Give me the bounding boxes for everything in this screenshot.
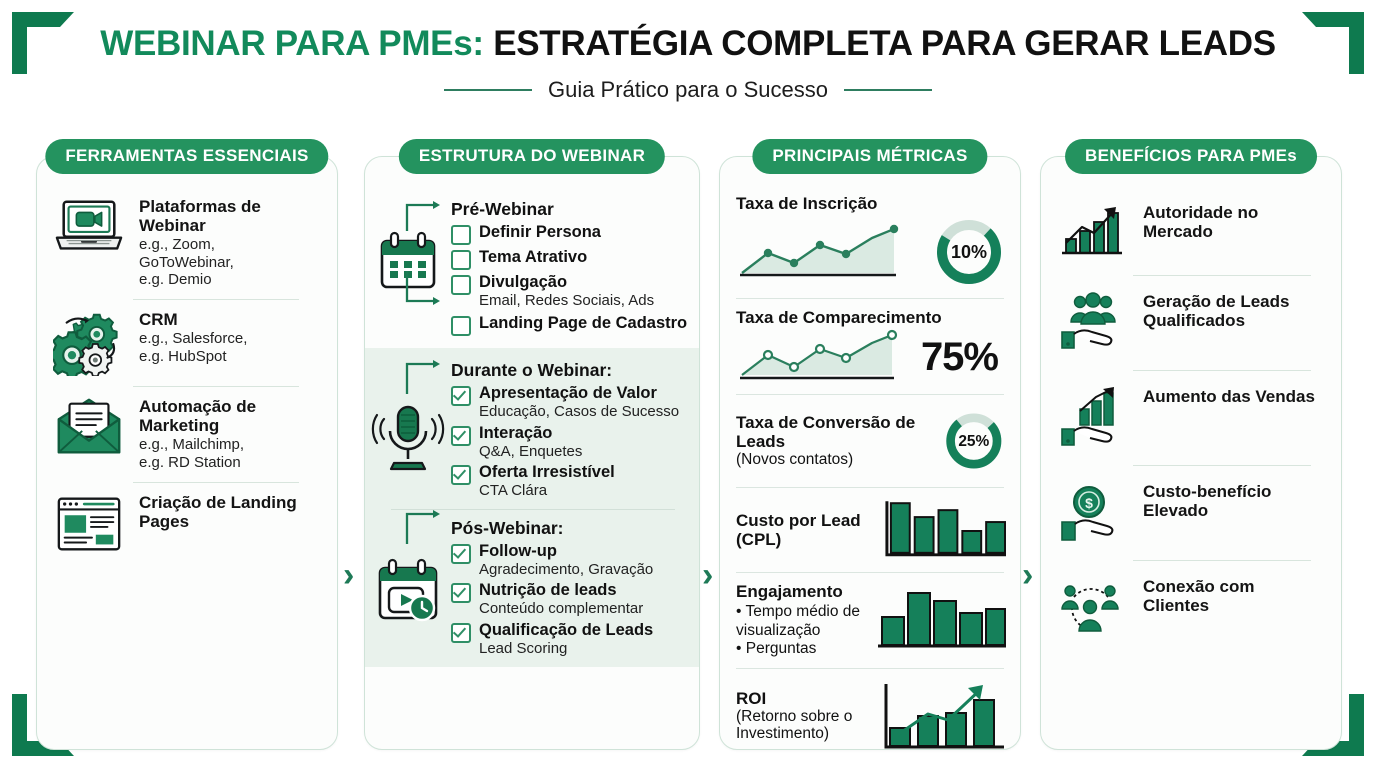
checkbox-unchecked-icon[interactable] [451, 225, 471, 245]
metric-bullet: • Perguntas [736, 640, 860, 659]
checklist-label: Tema Atrativo [479, 248, 587, 266]
checklist-label: Follow-up [479, 542, 557, 560]
list-item[interactable]: Geração de Leads Qualificados [1041, 292, 1341, 354]
metric-taxa-comparecimento: Taxa de Comparecimento 75% [720, 301, 1020, 392]
metric-title: Custo por Lead (CPL) [736, 511, 871, 549]
checklist-label: Oferta Irresistível [479, 463, 615, 481]
beneficios-list: Autoridade no Mercado [1041, 203, 1341, 637]
list-item[interactable]: Plataformas de Webinar e.g., Zoom, GoToW… [37, 197, 337, 289]
checkbox-unchecked-icon[interactable] [451, 250, 471, 270]
checkbox-checked-icon[interactable] [451, 583, 471, 603]
list-item-text: Aumento das Vendas [1143, 387, 1325, 406]
list-item[interactable]: CRM e.g., Salesforce, e.g. HubSpot [37, 310, 337, 376]
checklist-item[interactable]: Divulgação Email, Redes Sociais, Ads [451, 273, 689, 309]
divider [1133, 560, 1311, 561]
divider [736, 487, 1004, 488]
divider [736, 572, 1004, 573]
list-item-heading: Conexão com Clientes [1143, 577, 1325, 615]
segment-text: Pós-Webinar: Follow-up Agradecimento, Gr… [451, 516, 689, 657]
list-item-heading: CRM [139, 310, 321, 329]
envelope-mail-icon [53, 397, 125, 459]
segment-text: Pré-Webinar Definir Persona Tema Atrativ… [451, 197, 689, 336]
bar-chart-engajamento [876, 585, 1006, 655]
connector-chevron-2: › [702, 558, 713, 592]
list-item[interactable]: Aumento das Vendas [1041, 387, 1341, 449]
list-item-text: Geração de Leads Qualificados [1143, 292, 1325, 330]
bar-chart-cpl [877, 497, 1006, 563]
laptop-video-icon [53, 197, 125, 259]
panel-ferramentas-essenciais: FERRAMENTAS ESSENCIAIS [36, 156, 338, 750]
checklist-item[interactable]: Nutrição de leads Conteúdo complementar [451, 581, 689, 617]
list-item-text: CRM e.g., Salesforce, e.g. HubSpot [139, 310, 321, 365]
checklist-label: Qualificação de Leads [479, 621, 653, 639]
metric-custo-por-lead: Custo por Lead (CPL) [720, 490, 1020, 570]
panel-title-beneficios: BENEFÍCIOS PARA PMEs [1065, 139, 1317, 174]
panel-title-ferramentas: FERRAMENTAS ESSENCIAIS [45, 139, 328, 174]
divider [736, 394, 1004, 395]
checkbox-unchecked-icon[interactable] [451, 275, 471, 295]
gears-icon [53, 310, 125, 376]
checkbox-checked-icon[interactable] [451, 465, 471, 485]
panel-title-metricas: PRINCIPAIS MÉTRICAS [752, 139, 987, 174]
metric-taxa-conversao: Taxa de Conversão de Leads (Novos contat… [720, 397, 1020, 485]
checklist-item[interactable]: Apresentação de Valor Educação, Casos de… [451, 384, 689, 420]
page-title: WEBINAR PARA PMEs: ESTRATÉGIA COMPLETA P… [0, 26, 1376, 63]
calendar-play-clock-icon [369, 516, 445, 657]
checklist-item[interactable]: Interação Q&A, Enquetes [451, 424, 689, 460]
checklist-label: Definir Persona [479, 223, 601, 241]
list-item[interactable]: $ Custo-benefício Elevado [1041, 482, 1341, 544]
checklist-label: Apresentação de Valor [479, 384, 657, 402]
metric-taxa-inscricao: Taxa de Inscrição 10% [720, 187, 1020, 296]
checklist-item[interactable]: Definir Persona [451, 223, 689, 245]
growth-bars-arrow-icon [1057, 203, 1129, 259]
divider [736, 298, 1004, 299]
list-item[interactable]: Autoridade no Mercado [1041, 203, 1341, 259]
segment-text: Durante o Webinar: Apresentação de Valor… [451, 358, 689, 499]
metric-title: Taxa de Inscrição [736, 194, 1006, 213]
metric-title: Engajamento [736, 582, 860, 601]
list-item-text: Conexão com Clientes [1143, 577, 1325, 615]
segment-pre-webinar: Pré-Webinar Definir Persona Tema Atrativ… [365, 189, 699, 342]
calendar-icon [369, 197, 445, 336]
panel-principais-metricas: PRINCIPAIS MÉTRICAS Taxa de Inscrição [719, 156, 1021, 750]
list-item-text: Automação de Marketing e.g., Mailchimp, … [139, 397, 321, 471]
checklist-sub: Educação, Casos de Sucesso [479, 403, 679, 420]
metric-note: (Novos contatos) [736, 451, 936, 469]
list-item-sub: e.g., Zoom, GoToWebinar, e.g. Demio [139, 236, 321, 289]
list-item-sub: e.g., Salesforce, e.g. HubSpot [139, 330, 321, 365]
connector-chevron-3: › [1022, 558, 1033, 592]
list-item-heading: Plataformas de Webinar [139, 197, 321, 235]
donut-chart-10: 10% [932, 215, 1006, 289]
divider [1133, 275, 1311, 276]
divider [1133, 465, 1311, 466]
metric-title: Taxa de Conversão de Leads [736, 413, 936, 451]
microphone-icon [369, 358, 445, 499]
sparkline-chart [736, 329, 901, 385]
divider [133, 482, 299, 483]
checklist-label: Divulgação [479, 273, 567, 291]
segment-title: Durante o Webinar: [451, 360, 689, 381]
checklist-label: Interação [479, 424, 552, 442]
list-item-heading: Autoridade no Mercado [1143, 203, 1325, 241]
checklist-sub: Conteúdo complementar [479, 600, 643, 617]
donut-chart-25: 25% [942, 404, 1006, 478]
divider [133, 299, 299, 300]
checklist-item[interactable]: Qualificação de Leads Lead Scoring [451, 621, 689, 657]
list-item-text: Custo-benefício Elevado [1143, 482, 1325, 520]
segment-title: Pós-Webinar: [451, 518, 689, 539]
checkbox-checked-icon[interactable] [451, 544, 471, 564]
list-item[interactable]: Automação de Marketing e.g., Mailchimp, … [37, 397, 337, 471]
metric-bullets: • Tempo médio de visualização • Pergunta… [736, 603, 860, 659]
hand-bars-arrow-icon [1057, 387, 1129, 449]
ferramentas-list: Plataformas de Webinar e.g., Zoom, GoToW… [37, 197, 337, 555]
checklist-item[interactable]: Follow-up Agradecimento, Gravação [451, 542, 689, 578]
checklist-sub: Email, Redes Sociais, Ads [479, 292, 654, 309]
divider [736, 668, 1004, 669]
donut-value-label: 10% [951, 242, 987, 262]
checklist-sub: Q&A, Enquetes [479, 443, 582, 460]
bar-chart-roi [876, 678, 1006, 754]
metric-bullet: • Tempo médio de [736, 603, 860, 622]
columns-board: › › › FERRAMENTAS ESSENCIAIS [0, 138, 1376, 748]
list-item[interactable]: Conexão com Clientes [1041, 577, 1341, 637]
checkbox-checked-icon[interactable] [451, 426, 471, 446]
panel-estrutura-do-webinar: ESTRUTURA DO WEBINAR [364, 156, 700, 750]
subtitle-rule-left [444, 89, 532, 91]
checkbox-checked-icon[interactable] [451, 623, 471, 643]
list-item-text: Criação de Landing Pages [139, 493, 321, 531]
page-title-main: ESTRATÉGIA COMPLETA PARA GERAR LEADS [493, 24, 1276, 63]
connector-chevron-1: › [343, 558, 354, 592]
list-item-text: Plataformas de Webinar e.g., Zoom, GoToW… [139, 197, 321, 289]
panel-title-estrutura: ESTRUTURA DO WEBINAR [399, 139, 665, 174]
divider [1133, 370, 1311, 371]
list-item[interactable]: Criação de Landing Pages [37, 493, 337, 555]
checkbox-unchecked-icon[interactable] [451, 316, 471, 336]
hand-coin-icon: $ [1057, 482, 1129, 544]
metric-engajamento: Engajamento • Tempo médio de visualizaçã… [720, 575, 1020, 666]
checklist-item[interactable]: Landing Page de Cadastro [451, 314, 689, 336]
list-item-heading: Geração de Leads Qualificados [1143, 292, 1325, 330]
sparkline-chart [736, 221, 901, 283]
landing-page-icon [53, 493, 125, 555]
checklist-item[interactable]: Tema Atrativo [451, 248, 689, 270]
divider [133, 386, 299, 387]
metric-title: ROI [736, 689, 861, 708]
list-item-sub: e.g., Mailchimp, e.g. RD Station [139, 436, 321, 471]
metric-roi: ROI (Retorno sobre o Investimento) [720, 671, 1020, 761]
donut-value-label: 25% [959, 433, 990, 450]
segment-pos-webinar: Pós-Webinar: Follow-up Agradecimento, Gr… [365, 516, 699, 657]
checklist-sub: Lead Scoring [479, 640, 653, 657]
subtitle-rule-right [844, 89, 932, 91]
checklist-sub: Agradecimento, Gravação [479, 561, 653, 578]
list-item-heading: Criação de Landing Pages [139, 493, 321, 531]
checkbox-checked-icon[interactable] [451, 386, 471, 406]
hand-people-icon [1057, 292, 1129, 354]
metric-note: (Retorno sobre o Investimento) [736, 708, 861, 744]
metric-title: Taxa de Comparecimento [736, 308, 1006, 327]
page-header: WEBINAR PARA PMEs: ESTRATÉGIA COMPLETA P… [0, 26, 1376, 103]
checklist-sub: CTA Clára [479, 482, 615, 499]
list-item-heading: Custo-benefício Elevado [1143, 482, 1325, 520]
list-item-heading: Aumento das Vendas [1143, 387, 1325, 406]
panel-beneficios-para-pmes: BENEFÍCIOS PARA PMEs [1040, 156, 1342, 750]
checklist-label: Landing Page de Cadastro [479, 314, 687, 332]
checklist-item[interactable]: Oferta Irresistível CTA Clára [451, 463, 689, 499]
segment-durante-webinar: Durante o Webinar: Apresentação de Valor… [365, 348, 699, 667]
metric-bullet: visualização [736, 622, 860, 641]
segment-title: Pré-Webinar [451, 199, 689, 220]
page-subtitle: Guia Prático para o Sucesso [548, 77, 828, 103]
checklist-label: Nutrição de leads [479, 581, 617, 599]
people-connection-icon [1057, 577, 1129, 637]
page-title-accent: WEBINAR PARA PMEs: [100, 24, 484, 63]
list-item-text: Autoridade no Mercado [1143, 203, 1325, 241]
metric-big-value: 75% [921, 337, 1006, 377]
svg-text:$: $ [1085, 495, 1093, 511]
list-item-heading: Automação de Marketing [139, 397, 321, 435]
subtitle-row: Guia Prático para o Sucesso [0, 77, 1376, 103]
